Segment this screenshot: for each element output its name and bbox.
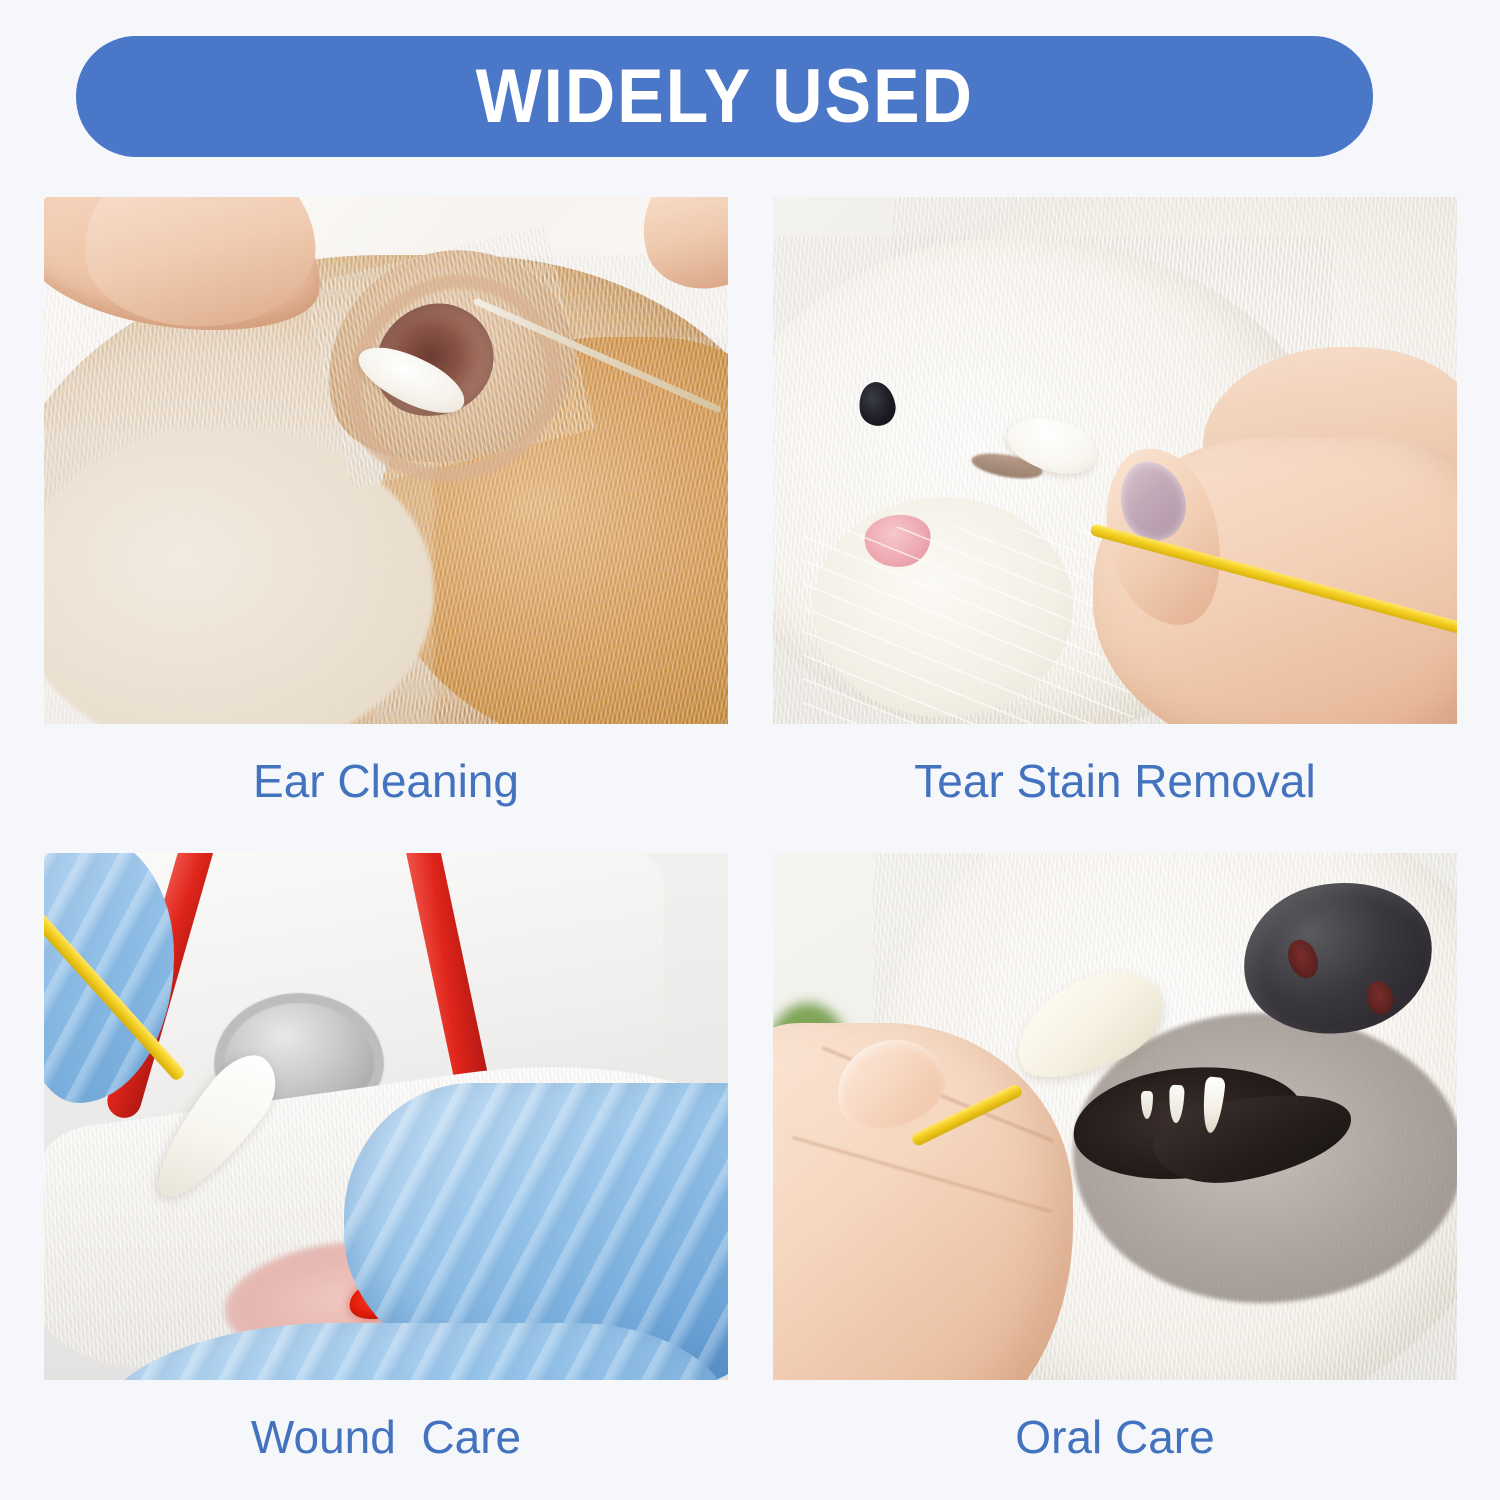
photo-ear-cleaning [44,197,728,724]
caption-wound-care: Wound Care [44,1412,728,1463]
use-case-card-ear-cleaning: Ear Cleaning [44,197,728,807]
photo-tear-stain-removal [773,197,1457,724]
cat-whiskers [803,527,1133,724]
caption-tear-stain-removal: Tear Stain Removal [773,756,1457,807]
use-case-card-tear-stain-removal: Tear Stain Removal [773,197,1457,807]
header-banner: WIDELY USED [76,36,1373,157]
use-case-grid: Ear Cleaning Tear Stain Removal [44,197,1457,1462]
use-case-card-wound-care: Wound Care [44,853,728,1463]
photo-oral-care [773,853,1457,1380]
caption-oral-care: Oral Care [773,1412,1457,1463]
infographic-page: WIDELY USED Ear Cleaning [0,0,1500,1500]
use-case-card-oral-care: Oral Care [773,853,1457,1463]
photo-wound-care [44,853,728,1380]
caption-ear-cleaning: Ear Cleaning [44,756,728,807]
page-title: WIDELY USED [475,59,973,135]
